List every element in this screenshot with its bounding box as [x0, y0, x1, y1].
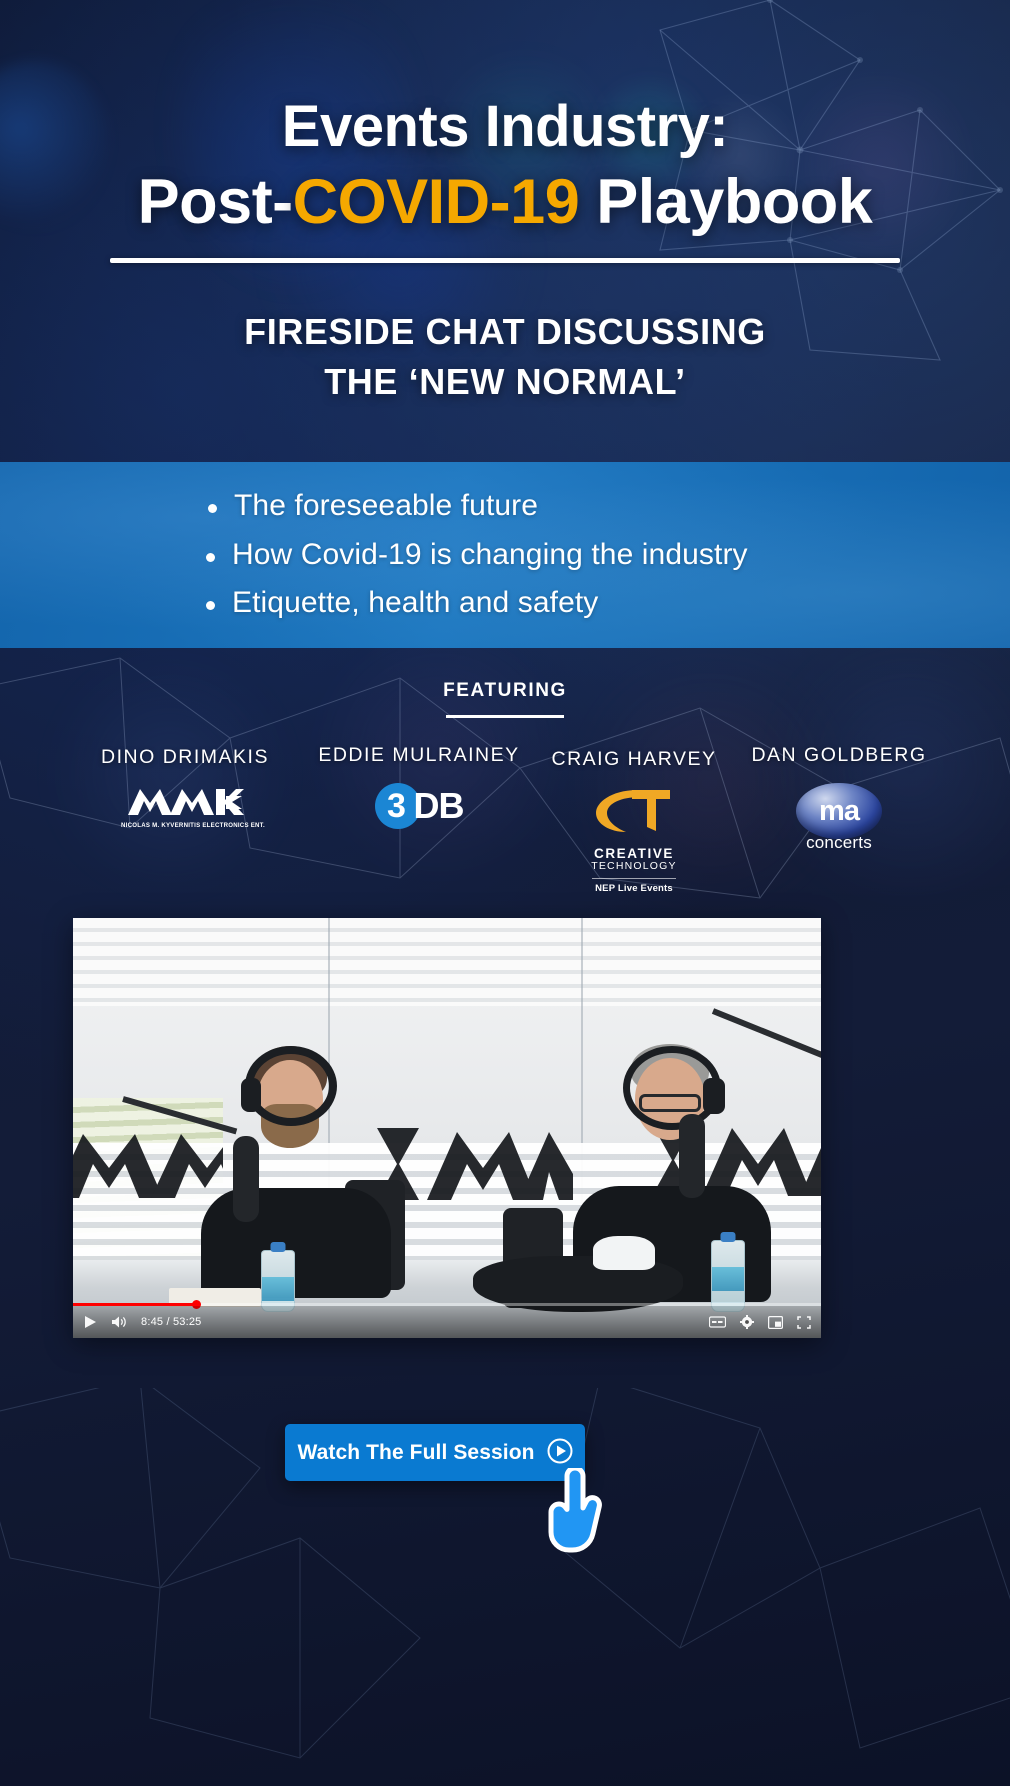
speaker-name: CRAIG HARVEY — [534, 748, 734, 771]
miniplayer-icon[interactable] — [768, 1316, 783, 1329]
subtitle-line-2: THE ‘NEW NORMAL’ — [324, 361, 686, 402]
nmk-logo: NICOLAS M. KYVERNITIS ELECTRONICS ENT. — [121, 785, 249, 829]
title-divider — [110, 258, 900, 263]
title-post: Playbook — [579, 167, 872, 237]
cc-icon[interactable] — [709, 1316, 726, 1328]
video-controls[interactable]: 8:45 / 53:25 — [73, 1298, 821, 1338]
speaker-logo: CREATIVE TECHNOLOGY NEP Live Events — [534, 787, 734, 894]
video-player[interactable]: 8:45 / 53:25 — [73, 918, 821, 1338]
speaker-logo: ma concerts — [734, 783, 944, 853]
ct-line-2: TECHNOLOGY — [574, 861, 694, 873]
volume-icon[interactable] — [111, 1315, 127, 1329]
nmk-mark-icon — [126, 785, 244, 819]
speaker-eddie-mulrainey: EDDIE MULRAINEY 3 DB — [304, 744, 534, 829]
watch-full-session-button[interactable]: Watch The Full Session — [285, 1424, 585, 1481]
speaker-logo: NICOLAS M. KYVERNITIS ELECTRONICS ENT. — [66, 785, 304, 829]
3db-wordmark: DB — [414, 788, 464, 824]
pointing-hand-cursor — [545, 1468, 617, 1563]
highlights-list: The foreseeable future How Covid-19 is c… — [208, 482, 1010, 628]
title-accent: COVID-19 — [293, 167, 580, 237]
creative-technology-wordmark: CREATIVE TECHNOLOGY — [574, 846, 694, 873]
3db-logo: 3 DB — [375, 783, 464, 829]
play-circle-icon — [547, 1438, 573, 1467]
ct-divider — [592, 878, 676, 879]
video-thumbnail — [73, 918, 821, 1338]
speaker-name: DAN GOLDBERG — [734, 744, 944, 767]
list-item: Etiquette, health and safety — [206, 579, 1010, 628]
speaker-dino-drimakis: DINO DRIMAKIS NICOLAS M. KYVERNITIS ELEC… — [66, 746, 304, 829]
ma-oval-mark: ma — [796, 783, 882, 839]
video-section: 8:45 / 53:25 — [0, 918, 1010, 1388]
hero-section: Events Industry: Post-COVID-19 Playbook … — [0, 0, 1010, 462]
creative-technology-logo: CREATIVE TECHNOLOGY NEP Live Events — [574, 787, 694, 894]
wall-logo-nmk-icon — [73, 1118, 223, 1208]
speaker-logo: 3 DB — [304, 783, 534, 829]
nmk-logo-subtext: NICOLAS M. KYVERNITIS ELECTRONICS ENT. — [121, 822, 249, 829]
promo-page: Events Industry: Post-COVID-19 Playbook … — [0, 0, 1010, 1786]
featuring-underline — [446, 715, 564, 718]
ma-concerts-logo: ma concerts — [784, 783, 894, 853]
fullscreen-icon[interactable] — [797, 1316, 811, 1329]
ma-mark-text: ma — [819, 797, 859, 826]
highlights-band: The foreseeable future How Covid-19 is c… — [0, 462, 1010, 648]
list-item: How Covid-19 is changing the industry — [206, 531, 1010, 580]
featuring-section: FEATURING DINO DRIMAKIS — [0, 648, 1010, 918]
ma-wordmark: concerts — [784, 833, 894, 853]
play-icon[interactable] — [83, 1315, 97, 1329]
subtitle-line-1: FIRESIDE CHAT DISCUSSING — [244, 311, 766, 352]
list-item: The foreseeable future — [208, 482, 1010, 531]
featuring-label: FEATURING — [0, 648, 1010, 702]
speaker-name: EDDIE MULRAINEY — [304, 744, 534, 767]
page-subtitle: FIRESIDE CHAT DISCUSSING THE ‘NEW NORMAL… — [0, 307, 1010, 406]
ct-nep-line: NEP Live Events — [574, 883, 694, 894]
speakers-row: DINO DRIMAKIS NICOLAS M. KYVERNITIS ELEC… — [0, 744, 1010, 894]
title-pre: Post- — [138, 167, 293, 237]
time-display: 8:45 / 53:25 — [141, 1316, 202, 1328]
page-title: Events Industry: Post-COVID-19 Playbook — [0, 96, 1010, 236]
title-line-2: Post-COVID-19 Playbook — [0, 169, 1010, 236]
gear-icon[interactable] — [740, 1315, 754, 1329]
speaker-name: DINO DRIMAKIS — [66, 746, 304, 769]
speaker-dan-goldberg: DAN GOLDBERG ma concerts — [734, 744, 944, 853]
speaker-craig-harvey: CRAIG HARVEY CREATIVE TECHNOLOGY NEP Liv… — [534, 748, 734, 894]
cta-label: Watch The Full Session — [297, 1441, 534, 1465]
title-line-1: Events Industry: — [0, 96, 1010, 157]
creative-technology-mark-icon — [592, 787, 676, 835]
cta-section: Watch The Full Session — [0, 1388, 1010, 1786]
ct-line-1: CREATIVE — [594, 846, 674, 861]
